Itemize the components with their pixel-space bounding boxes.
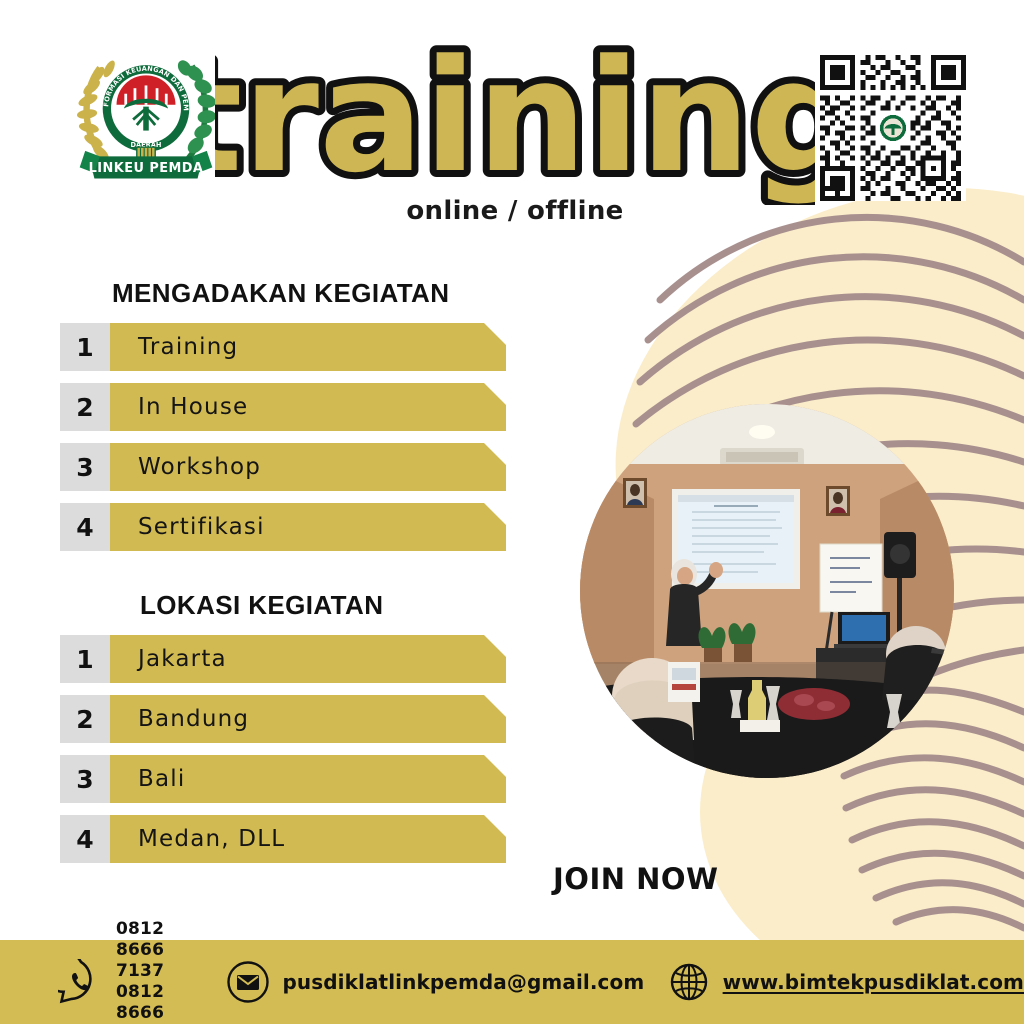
poster-title: training xyxy=(215,30,815,205)
list-item[interactable]: 4 Medan, DLL xyxy=(0,815,520,863)
training-seminar-photo xyxy=(580,404,954,778)
list-item[interactable]: 2 Bandung xyxy=(0,695,520,743)
qr-code[interactable] xyxy=(820,55,966,201)
website-url: www.bimtekpusdiklat.com xyxy=(723,970,1024,994)
list-item[interactable]: 1 Training xyxy=(0,323,520,371)
whatsapp-icon xyxy=(58,959,104,1005)
list-item-bar: Workshop xyxy=(110,443,506,491)
website-contact[interactable]: www.bimtekpusdiklat.com xyxy=(667,960,1024,1004)
list-item-number: 1 xyxy=(60,323,110,371)
list-item[interactable]: 3 Bali xyxy=(0,755,520,803)
list-item-bar: Sertifikasi xyxy=(110,503,506,551)
list-item-label: In House xyxy=(110,394,248,420)
list-item-label: Workshop xyxy=(110,454,261,480)
section-title: MENGADAKAN KEGIATAN xyxy=(0,278,520,309)
list-item-label: Jakarta xyxy=(110,646,227,672)
email-contact[interactable]: pusdiklatlinkpemda@gmail.com xyxy=(226,960,644,1004)
list-item-bar: Bali xyxy=(110,755,506,803)
join-now-label[interactable]: JOIN NOW xyxy=(553,862,719,896)
list-item-number: 3 xyxy=(60,443,110,491)
table-papers xyxy=(740,720,780,732)
poster-subtitle: online / offline xyxy=(215,196,815,226)
linkeu-pemda-logo: LEMBAGA INFORMASI KEUANGAN DAN PEMBANGUN… xyxy=(72,44,220,184)
poster-header: LEMBAGA INFORMASI KEUANGAN DAN PEMBANGUN… xyxy=(0,0,1024,235)
training-flyer: LEMBAGA INFORMASI KEUANGAN DAN PEMBANGUN… xyxy=(0,0,1024,1024)
list-item-label: Bali xyxy=(110,766,185,792)
list-item-bar: Jakarta xyxy=(110,635,506,683)
list-item-bar: In House xyxy=(110,383,506,431)
side-laptop xyxy=(834,612,896,649)
list-item-number: 1 xyxy=(60,635,110,683)
table-bag xyxy=(778,688,850,720)
section-title: LOKASI KEGIATAN xyxy=(0,590,520,621)
wall-portrait-right xyxy=(826,486,850,516)
list-item-label: Bandung xyxy=(110,706,249,732)
contact-footer: 0812 8666 7137 0812 8666 3857 pusdiklatl… xyxy=(0,940,1024,1024)
phone-number-1: 0812 8666 7137 xyxy=(116,919,199,982)
title-block: training online / offline xyxy=(215,30,815,210)
list-item-number: 4 xyxy=(60,503,110,551)
list-item-number: 2 xyxy=(60,383,110,431)
phone-contact[interactable]: 0812 8666 7137 0812 8666 3857 xyxy=(58,919,199,1024)
list-item-label: Training xyxy=(110,334,238,360)
list-item-bar: Bandung xyxy=(110,695,506,743)
list-item-bar: Training xyxy=(110,323,506,371)
list-item-number: 4 xyxy=(60,815,110,863)
list-item[interactable]: 4 Sertifikasi xyxy=(0,503,520,551)
envelope-icon xyxy=(226,960,270,1004)
list-item[interactable]: 2 In House xyxy=(0,383,520,431)
list-item-label: Medan, DLL xyxy=(110,826,285,852)
globe-icon xyxy=(667,960,711,1004)
section-mengadakan-kegiatan: MENGADAKAN KEGIATAN 1 Training 2 In Hous… xyxy=(0,278,520,563)
list-item-bar: Medan, DLL xyxy=(110,815,506,863)
wall-portrait-left xyxy=(623,478,647,508)
section-lokasi-kegiatan: LOKASI KEGIATAN 1 Jakarta 2 Bandung 3 Ba… xyxy=(0,590,520,875)
phone-numbers: 0812 8666 7137 0812 8666 3857 xyxy=(116,919,199,1024)
logo-banner-text: LINKEU PEMDA xyxy=(89,161,204,176)
email-address: pusdiklatlinkpemda@gmail.com xyxy=(282,970,644,994)
list-item-number: 2 xyxy=(60,695,110,743)
list-item-number: 3 xyxy=(60,755,110,803)
phone-number-2: 0812 8666 3857 xyxy=(116,982,199,1024)
list-item[interactable]: 3 Workshop xyxy=(0,443,520,491)
qr-center-logo xyxy=(880,115,906,141)
training-wordmark: training xyxy=(215,30,815,205)
list-item-label: Sertifikasi xyxy=(110,514,265,540)
list-item[interactable]: 1 Jakarta xyxy=(0,635,520,683)
